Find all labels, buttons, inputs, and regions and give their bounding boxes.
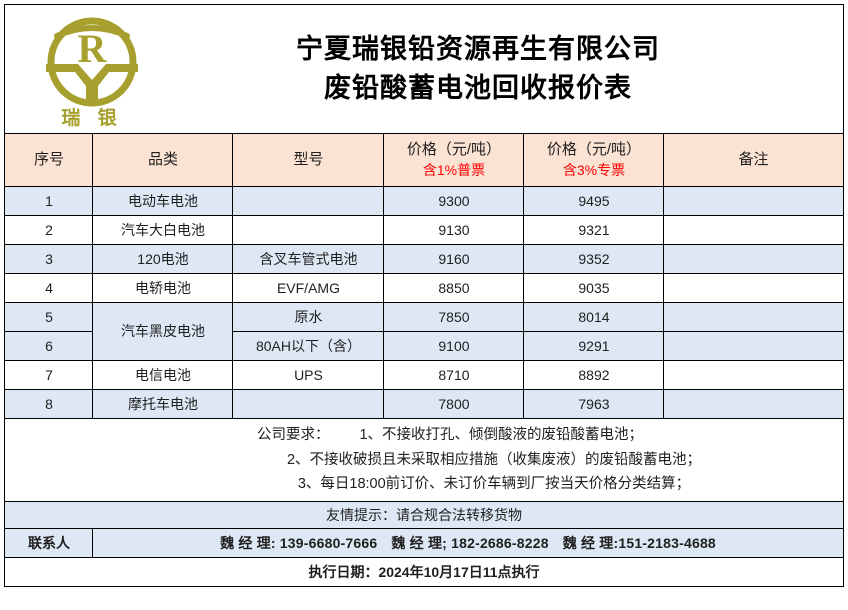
table-row: 8 摩托车电池 7800 7963	[5, 390, 843, 419]
cell-model	[233, 187, 384, 216]
execution-date: 执行日期：2024年10月17日11点执行	[5, 558, 843, 587]
header-model: 型号	[233, 134, 384, 187]
title-row: R 瑞 银 宁夏瑞银铅资源再生有限公司 废铅酸蓄电池回收报价表	[5, 5, 843, 134]
requirements-label: 公司要求：	[257, 423, 330, 448]
table-row: 2 汽车大白电池 9130 9321	[5, 216, 843, 245]
cell-model: UPS	[233, 361, 384, 390]
header-price2-sub: 含3%专票	[563, 163, 625, 178]
requirement-line-1: 公司要求：1、不接收打孔、倾倒酸液的废铅酸蓄电池；	[5, 423, 842, 448]
table-row: 3 120电池 含叉车管式电池 9160 9352	[5, 245, 843, 274]
logo-brand-text: 瑞 银	[62, 106, 123, 128]
tip-row: 友情提示：请合规合法转移货物	[5, 502, 843, 529]
cell-category: 摩托车电池	[93, 390, 233, 419]
cell-index: 7	[5, 361, 93, 390]
table-row: 4 电轿电池 EVF/AMG 8850 9035	[5, 274, 843, 303]
cell-index: 1	[5, 187, 93, 216]
cell-remark	[664, 332, 843, 361]
cell-index: 3	[5, 245, 93, 274]
exec-date-row: 执行日期：2024年10月17日11点执行	[5, 558, 843, 587]
contact-label: 联系人	[5, 529, 93, 558]
cell-price-normal: 8710	[384, 361, 524, 390]
cell-price-special: 9321	[524, 216, 664, 245]
cell-model	[233, 390, 384, 419]
cell-price-special: 9352	[524, 245, 664, 274]
table-row: 7 电信电池 UPS 8710 8892	[5, 361, 843, 390]
requirement-item-1: 1、不接收打孔、倾倒酸液的废铅酸蓄电池；	[359, 427, 643, 443]
cell-price-special: 7963	[524, 390, 664, 419]
contact-person-2: 魏 经 理; 182-2686-8228	[391, 535, 548, 551]
table-header-row: 序号 品类 型号 价格（元/吨） 含1%普票 价格（元/吨） 含3%专票 备注	[5, 134, 843, 187]
cell-category: 电动车电池	[93, 187, 233, 216]
contact-list: 魏 经 理: 139-6680-7666魏 经 理; 182-2686-8228…	[93, 529, 843, 558]
header-remark: 备注	[664, 134, 843, 187]
cell-remark	[664, 274, 843, 303]
friendly-tip: 友情提示：请合规合法转移货物	[5, 502, 843, 529]
cell-category-merged: 汽车黑皮电池	[93, 303, 233, 361]
contact-person-1: 魏 经 理: 139-6680-7666	[220, 535, 377, 551]
cell-remark	[664, 216, 843, 245]
cell-price-normal: 8850	[384, 274, 524, 303]
cell-index: 5	[5, 303, 93, 332]
cell-index: 8	[5, 390, 93, 419]
header-price1-sub: 含1%普票	[423, 163, 485, 178]
cell-remark	[664, 303, 843, 332]
requirement-item-2: 2、不接收破损且未采取相应措施（收集废液）的废铅酸蓄电池；	[287, 452, 701, 468]
requirements-row: 公司要求：1、不接收打孔、倾倒酸液的废铅酸蓄电池； 2、不接收破损且未采取相应措…	[5, 419, 843, 502]
cell-index: 4	[5, 274, 93, 303]
requirement-line-2: 2、不接收破损且未采取相应措施（收集废液）的废铅酸蓄电池；	[5, 448, 842, 473]
contact-person-3: 魏 经 理:151-2183-4688	[563, 535, 716, 551]
cell-category: 电信电池	[93, 361, 233, 390]
cell-price-special: 8892	[524, 361, 664, 390]
title-line-1: 宁夏瑞银铅资源再生有限公司	[153, 30, 802, 69]
cell-price-special: 9291	[524, 332, 664, 361]
logo-letter: R	[78, 26, 108, 71]
requirements-block: 公司要求：1、不接收打孔、倾倒酸液的废铅酸蓄电池； 2、不接收破损且未采取相应措…	[5, 419, 843, 502]
cell-remark	[664, 361, 843, 390]
cell-model: 80AH以下（含）	[233, 332, 384, 361]
cell-price-normal: 9130	[384, 216, 524, 245]
company-title: 宁夏瑞银铅资源再生有限公司 废铅酸蓄电池回收报价表	[153, 30, 842, 108]
header-price2-top: 价格（元/吨）	[547, 142, 641, 159]
header-price1-top: 价格（元/吨）	[407, 142, 501, 159]
cell-index: 6	[5, 332, 93, 361]
cell-price-normal: 9160	[384, 245, 524, 274]
cell-price-normal: 9100	[384, 332, 524, 361]
cell-price-normal: 9300	[384, 187, 524, 216]
cell-model: 原水	[233, 303, 384, 332]
table-row: 1 电动车电池 9300 9495	[5, 187, 843, 216]
header-price-normal-invoice: 价格（元/吨） 含1%普票	[384, 134, 524, 187]
cell-price-special: 9495	[524, 187, 664, 216]
cell-category: 电轿电池	[93, 274, 233, 303]
cell-model: 含叉车管式电池	[233, 245, 384, 274]
company-logo: R 瑞 银	[31, 10, 153, 128]
requirement-item-3: 3、每日18:00前订价、未订价车辆到厂按当天价格分类结算；	[298, 476, 690, 492]
cell-category: 120电池	[93, 245, 233, 274]
table-row: 5 汽车黑皮电池 原水 7850 8014	[5, 303, 843, 332]
header-index: 序号	[5, 134, 93, 187]
cell-price-normal: 7800	[384, 390, 524, 419]
quotation-sheet: R 瑞 银 宁夏瑞银铅资源再生有限公司 废铅酸蓄电池回收报价表 序号 品类 型号	[0, 4, 848, 610]
cell-remark	[664, 187, 843, 216]
cell-model: EVF/AMG	[233, 274, 384, 303]
cell-index: 2	[5, 216, 93, 245]
cell-price-normal: 7850	[384, 303, 524, 332]
cell-remark	[664, 245, 843, 274]
contact-row: 联系人 魏 经 理: 139-6680-7666魏 经 理; 182-2686-…	[5, 529, 843, 558]
header-price-special-invoice: 价格（元/吨） 含3%专票	[524, 134, 664, 187]
title-banner: R 瑞 银 宁夏瑞银铅资源再生有限公司 废铅酸蓄电池回收报价表	[5, 5, 843, 134]
title-line-2: 废铅酸蓄电池回收报价表	[153, 69, 802, 108]
header-category: 品类	[93, 134, 233, 187]
price-quotation-table: R 瑞 银 宁夏瑞银铅资源再生有限公司 废铅酸蓄电池回收报价表 序号 品类 型号	[4, 4, 843, 587]
cell-remark	[664, 390, 843, 419]
cell-price-special: 8014	[524, 303, 664, 332]
cell-model	[233, 216, 384, 245]
cell-price-special: 9035	[524, 274, 664, 303]
cell-category: 汽车大白电池	[93, 216, 233, 245]
requirement-line-3: 3、每日18:00前订价、未订价车辆到厂按当天价格分类结算；	[5, 472, 842, 497]
